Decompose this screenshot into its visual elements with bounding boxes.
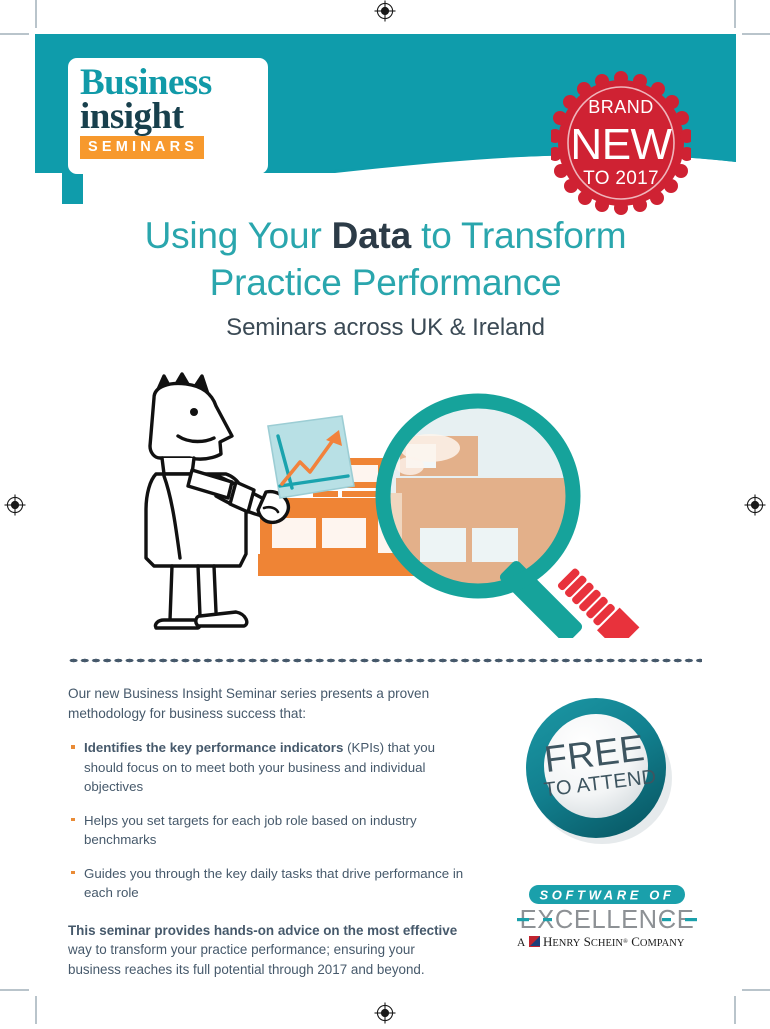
benefits-list: Identifies the key performance indicator… bbox=[68, 738, 468, 903]
crop-mark-bottom-right-h bbox=[742, 989, 770, 991]
body-lede: Our new Business Insight Seminar series … bbox=[68, 684, 468, 724]
crop-mark-bottom-right-v bbox=[734, 996, 736, 1024]
soe-line-henry-schein: HENRY SCHEIN® COMPANY bbox=[543, 934, 685, 949]
crop-mark-bottom-left-v bbox=[35, 996, 37, 1024]
bullet-rest-3: Guides you through the key daily tasks t… bbox=[84, 866, 463, 901]
soe-line-software-of: SOFTWARE OF bbox=[540, 888, 675, 903]
dotted-divider bbox=[68, 658, 702, 663]
crop-mark-top-right-h bbox=[742, 33, 770, 35]
headline-word-data: Data bbox=[332, 215, 411, 256]
headline-part-2: to Transform bbox=[411, 215, 626, 256]
headline-line-1: Using Your Data to Transform bbox=[35, 212, 736, 259]
badge-new-line3: TO 2017 bbox=[583, 168, 659, 189]
bullet-bold-1: Identifies the key performance indicator… bbox=[84, 740, 343, 755]
list-item: Identifies the key performance indicator… bbox=[68, 738, 468, 797]
logo-line-business: Business bbox=[80, 65, 260, 100]
business-insight-logo: Business insight SEMINARS bbox=[68, 58, 268, 174]
body-closing: This seminar provides hands-on advice on… bbox=[68, 921, 468, 980]
crop-mark-top-right-v bbox=[734, 0, 736, 28]
crop-mark-top-left-h bbox=[0, 33, 29, 35]
headline-part-1: Using Your bbox=[145, 215, 332, 256]
list-item: Guides you through the key daily tasks t… bbox=[68, 864, 468, 903]
person-figure bbox=[146, 374, 288, 628]
headline-subtitle: Seminars across UK & Ireland bbox=[35, 313, 736, 342]
magnifier-handle bbox=[498, 559, 640, 638]
hero-illustration bbox=[120, 358, 680, 638]
chart-tablet bbox=[268, 416, 354, 498]
registration-mark-left bbox=[4, 494, 26, 516]
body-copy: Our new Business Insight Seminar series … bbox=[68, 684, 468, 979]
soe-line-henry-schein-a: A bbox=[517, 937, 526, 949]
headline-line-2: Practice Performance bbox=[35, 259, 736, 306]
registration-mark-bottom bbox=[374, 1002, 396, 1024]
crop-mark-bottom-left-h bbox=[0, 989, 29, 991]
badge-new-line2: NEW bbox=[570, 120, 672, 169]
crop-mark-top-left-v bbox=[35, 0, 37, 28]
logo-line-insight: insight bbox=[80, 98, 260, 135]
badge-new-line1: BRAND bbox=[588, 97, 654, 117]
registration-mark-top bbox=[374, 0, 396, 22]
list-item: Helps you set targets for each job role … bbox=[68, 811, 468, 850]
logo-line-seminars: SEMINARS bbox=[80, 136, 204, 159]
flyer-page: Business insight SEMINARS bbox=[0, 0, 770, 1024]
software-of-excellence-logo: SOFTWARE OF EXCELLENCE A HENRY SCHEIN® C… bbox=[511, 884, 703, 954]
brand-new-badge: BRAND NEW TO 2017 bbox=[551, 70, 691, 216]
registration-mark-right bbox=[744, 494, 766, 516]
free-to-attend-badge: FREE TO ATTEND bbox=[516, 694, 682, 846]
bullet-rest-2: Helps you set targets for each job role … bbox=[84, 813, 417, 848]
closing-rest: way to transform your practice performan… bbox=[68, 942, 425, 977]
headline-block: Using Your Data to Transform Practice Pe… bbox=[35, 212, 736, 342]
closing-bold: This seminar provides hands-on advice on… bbox=[68, 923, 457, 938]
